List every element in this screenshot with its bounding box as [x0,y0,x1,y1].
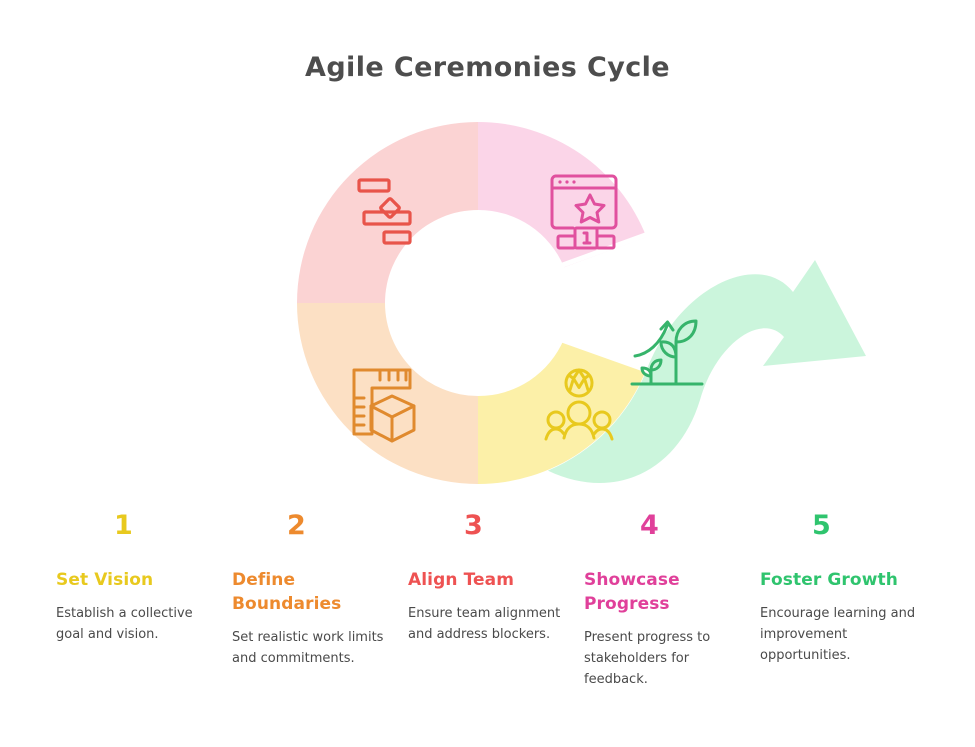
step-title-5: Foster Growth [760,568,928,592]
step-item-1: 1 Set Vision Establish a collective goal… [56,512,232,646]
step-item-3: 3 Align Team Ensure team alignment and a… [408,512,584,646]
step-item-2: 2 Define Boundaries Set realistic work l… [232,512,408,670]
cycle-diagram-svg [0,100,975,500]
step-description-5: Encourage learning and improvement oppor… [760,604,928,666]
step-item-5: 5 Foster Growth Encourage learning and i… [760,512,936,667]
step-title-4: Showcase Progress [584,568,752,616]
step-number-1: 1 [56,512,224,542]
step-description-2: Set realistic work limits and commitment… [232,628,400,670]
step-number-4: 4 [584,512,752,542]
step-description-4: Present progress to stakeholders for fee… [584,628,752,690]
cycle-diagram [0,100,975,500]
step-description-1: Establish a collective goal and vision. [56,604,224,646]
infographic-page: Agile Ceremonies Cycle [0,0,975,747]
step-title-2: Define Boundaries [232,568,400,616]
segment-define-boundaries[interactable] [297,303,478,484]
step-item-4: 4 Showcase Progress Present progress to … [584,512,760,691]
step-number-3: 3 [408,512,576,542]
step-title-3: Align Team [408,568,576,592]
steps-list: 1 Set Vision Establish a collective goal… [56,512,936,742]
step-description-3: Ensure team alignment and address blocke… [408,604,576,646]
step-title-1: Set Vision [56,568,224,592]
step-number-2: 2 [232,512,400,542]
page-title: Agile Ceremonies Cycle [0,52,975,83]
define-boundaries-arc [297,303,478,484]
step-number-5: 5 [760,512,928,542]
